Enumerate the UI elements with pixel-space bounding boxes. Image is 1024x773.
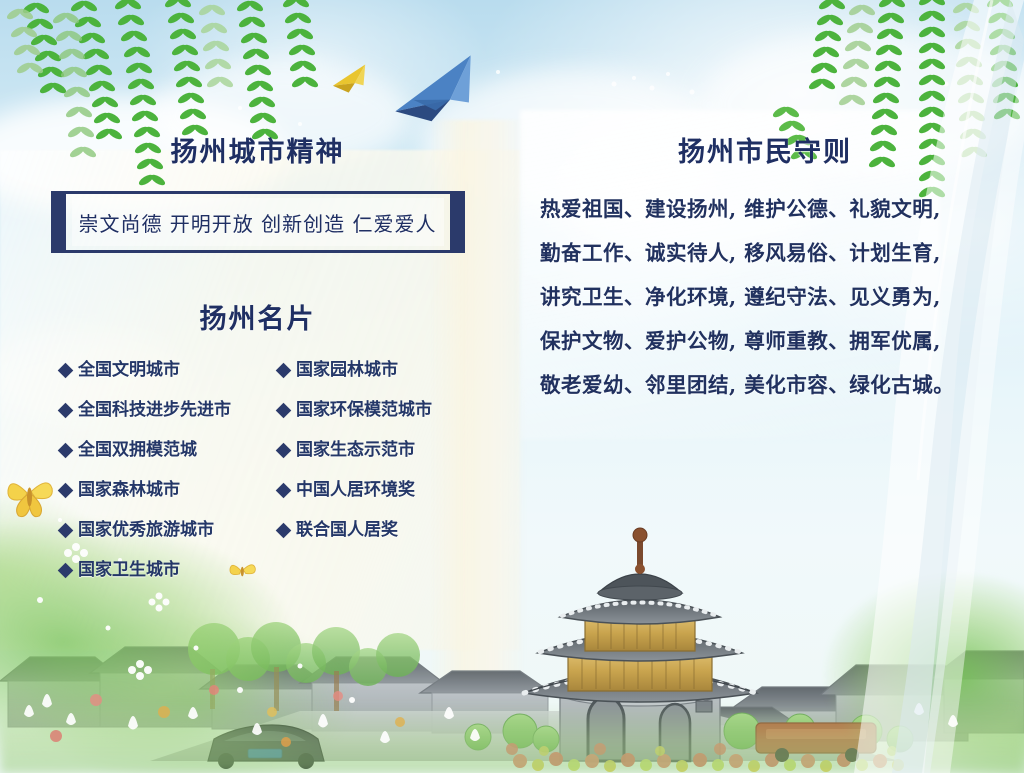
motto-frame-bar-right [450, 191, 465, 253]
list-item: 国家优秀旅游城市 [60, 512, 272, 549]
rule-line: 热爱祖国、建设扬州, 维护公德、礼貌文明, [540, 187, 990, 231]
city-cards-title: 扬州名片 [0, 297, 515, 336]
list-item: 联合国人居奖 [278, 512, 490, 549]
diamond-bullet-icon [58, 363, 74, 379]
diamond-bullet-icon [58, 563, 74, 579]
citizen-rules-title: 扬州市民守则 [540, 130, 990, 169]
diamond-bullet-icon [276, 523, 292, 539]
list-item: 全国文明城市 [60, 352, 272, 389]
list-item-label: 国家卫生城市 [78, 552, 180, 589]
diamond-bullet-icon [58, 523, 74, 539]
list-item-label: 联合国人居奖 [296, 512, 398, 549]
list-item: 国家生态示范市 [278, 432, 490, 469]
motto-frame-rule-bottom [57, 250, 459, 253]
list-item-label: 全国文明城市 [78, 352, 180, 389]
right-column: 扬州市民守则 热爱祖国、建设扬州, 维护公德、礼貌文明, 勤奋工作、诚实待人, … [540, 130, 990, 407]
diamond-bullet-icon [58, 403, 74, 419]
list-item-label: 国家森林城市 [78, 472, 180, 509]
list-item: 全国双拥模范城 [60, 432, 272, 469]
diamond-bullet-icon [58, 443, 74, 459]
diamond-bullet-icon [58, 483, 74, 499]
citizen-rules-body: 热爱祖国、建设扬州, 维护公德、礼貌文明, 勤奋工作、诚实待人, 移风易俗、计划… [540, 187, 990, 407]
city-cards-list: 全国文明城市 国家园林城市 全国科技进步先进市 国家环保模范城市 全国双拥模范城 [60, 352, 490, 589]
list-item: 全国科技进步先进市 [60, 392, 272, 429]
city-spirit-title: 扬州城市精神 [0, 130, 515, 169]
left-column: 扬州城市精神 崇文尚德 开明开放 创新创造 仁爱爱人 扬州名片 全国文明城市 [0, 130, 515, 589]
rule-line: 保护文物、爱护公物, 尊师重教、拥军优属, [540, 319, 990, 363]
list-item: 国家环保模范城市 [278, 392, 490, 429]
list-item-label: 国家优秀旅游城市 [78, 512, 214, 549]
city-motto-text: 崇文尚德 开明开放 创新创造 仁爱爱人 [78, 208, 436, 237]
motto-frame-rule-top [57, 191, 459, 194]
rule-line: 敬老爱幼、邻里团结, 美化市容、绿化古城。 [540, 363, 990, 407]
diamond-bullet-icon [276, 403, 292, 419]
motto-inner-box: 崇文尚德 开明开放 创新创造 仁爱爱人 [72, 198, 444, 246]
list-item-label: 国家环保模范城市 [296, 392, 432, 429]
city-motto-frame: 崇文尚德 开明开放 创新创造 仁爱爱人 [51, 191, 465, 253]
diamond-bullet-icon [276, 443, 292, 459]
list-item: 中国人居环境奖 [278, 472, 490, 509]
list-item-label: 国家园林城市 [296, 352, 398, 389]
poster-root: 扬州城市精神 崇文尚德 开明开放 创新创造 仁爱爱人 扬州名片 全国文明城市 [0, 0, 1024, 773]
rule-line: 勤奋工作、诚实待人, 移风易俗、计划生育, [540, 231, 990, 275]
list-item-label: 全国双拥模范城 [78, 432, 197, 469]
list-item-label: 全国科技进步先进市 [78, 392, 231, 429]
list-item: 国家森林城市 [60, 472, 272, 509]
list-item-label: 国家生态示范市 [296, 432, 415, 469]
motto-frame-bar-left [51, 191, 66, 253]
list-item-label: 中国人居环境奖 [296, 472, 415, 509]
list-item: 国家园林城市 [278, 352, 490, 389]
diamond-bullet-icon [276, 363, 292, 379]
poster-content: 扬州城市精神 崇文尚德 开明开放 创新创造 仁爱爱人 扬州名片 全国文明城市 [0, 0, 1024, 773]
diamond-bullet-icon [276, 483, 292, 499]
rule-line: 讲究卫生、净化环境, 遵纪守法、见义勇为, [540, 275, 990, 319]
list-item: 国家卫生城市 [60, 552, 272, 589]
list-item-empty [278, 552, 490, 589]
